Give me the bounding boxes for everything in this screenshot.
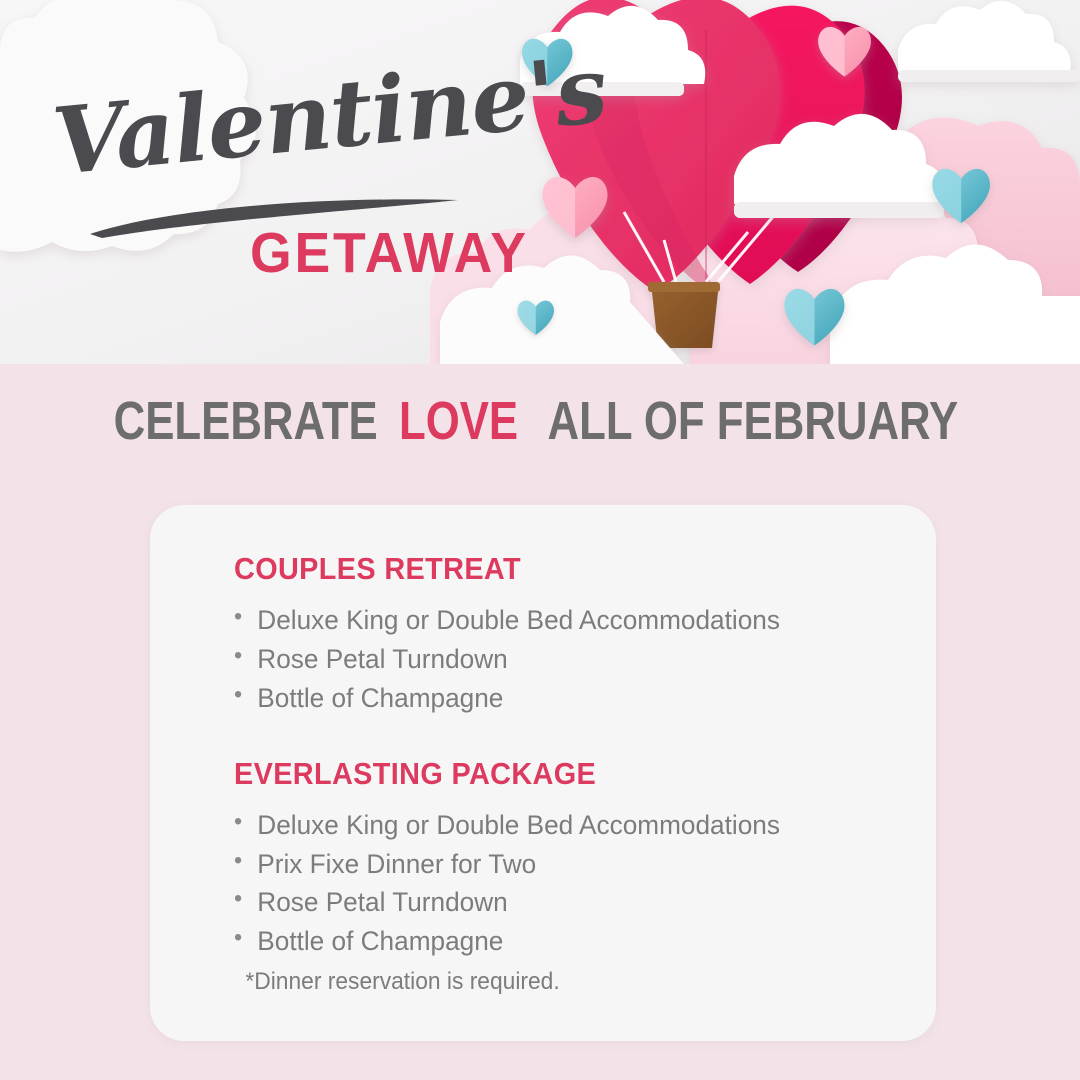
package-item-list: Deluxe King or Double Bed Accommodations… [234, 601, 896, 718]
list-item: Rose Petal Turndown [234, 883, 876, 922]
package-item-list: Deluxe King or Double Bed Accommodations… [234, 806, 896, 962]
package-couples-retreat: COUPLES RETREAT Deluxe King or Double Be… [234, 551, 896, 718]
list-item: Rose Petal Turndown [234, 640, 876, 679]
brand-logo: Valentine's GETAWAY [58, 96, 498, 276]
headline-part-2: ALL OF FEBRUARY [548, 390, 959, 452]
list-item: Deluxe King or Double Bed Accommodations [234, 806, 876, 845]
hero-banner: Valentine's GETAWAY [0, 0, 1080, 364]
package-everlasting: EVERLASTING PACKAGE Deluxe King or Doubl… [234, 756, 896, 997]
headline-highlight-love: LOVE [399, 390, 518, 452]
list-item: Deluxe King or Double Bed Accommodations [234, 601, 876, 640]
headline-part-1: CELEBRATE [114, 390, 378, 452]
package-footnote: *Dinner reservation is required. [234, 968, 863, 996]
list-item: Bottle of Champagne [234, 922, 876, 961]
page-headline: CELEBRATE LOVE ALL OF FEBRUARY [0, 390, 1080, 452]
packages-card: COUPLES RETREAT Deluxe King or Double Be… [150, 505, 936, 1041]
valentines-getaway-poster: Valentine's GETAWAY CELEBRATE LOVE ALL O… [0, 0, 1080, 1080]
logo-subtitle-text: GETAWAY [250, 220, 529, 286]
list-item: Prix Fixe Dinner for Two [234, 845, 876, 884]
package-title: EVERLASTING PACKAGE [234, 756, 850, 792]
list-item: Bottle of Champagne [234, 679, 876, 718]
package-title: COUPLES RETREAT [234, 551, 850, 587]
